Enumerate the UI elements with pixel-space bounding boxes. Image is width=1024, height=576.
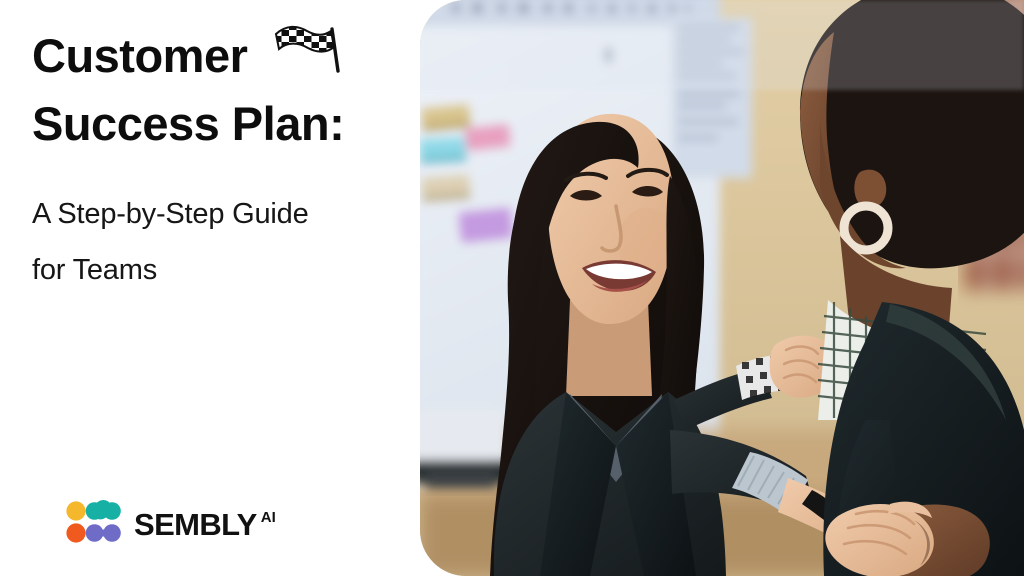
text-column: Customer: [32, 0, 418, 576]
checkered-flag-icon: [270, 22, 342, 74]
title-line-1: Customer: [32, 22, 418, 90]
sembly-wordmark-text: SEMBLY: [134, 507, 257, 542]
sembly-ai-suffix: AI: [261, 509, 276, 526]
sembly-logo-mark-icon: [66, 499, 122, 545]
subtitle-line-1: A Step-by-Step Guide: [32, 186, 424, 242]
hero-photo: [420, 0, 1024, 576]
subtitle-line-2: for Teams: [32, 242, 424, 298]
title-line-1-text: Customer: [32, 29, 247, 82]
sembly-ai-logo: SEMBLYAI: [66, 498, 272, 546]
slide-canvas: Customer: [0, 0, 1024, 576]
title-line-2: Success Plan:: [32, 90, 418, 158]
sembly-wordmark: SEMBLYAI: [134, 509, 272, 540]
page-title: Customer: [32, 22, 418, 158]
page-subtitle: A Step-by-Step Guide for Teams: [32, 186, 424, 298]
